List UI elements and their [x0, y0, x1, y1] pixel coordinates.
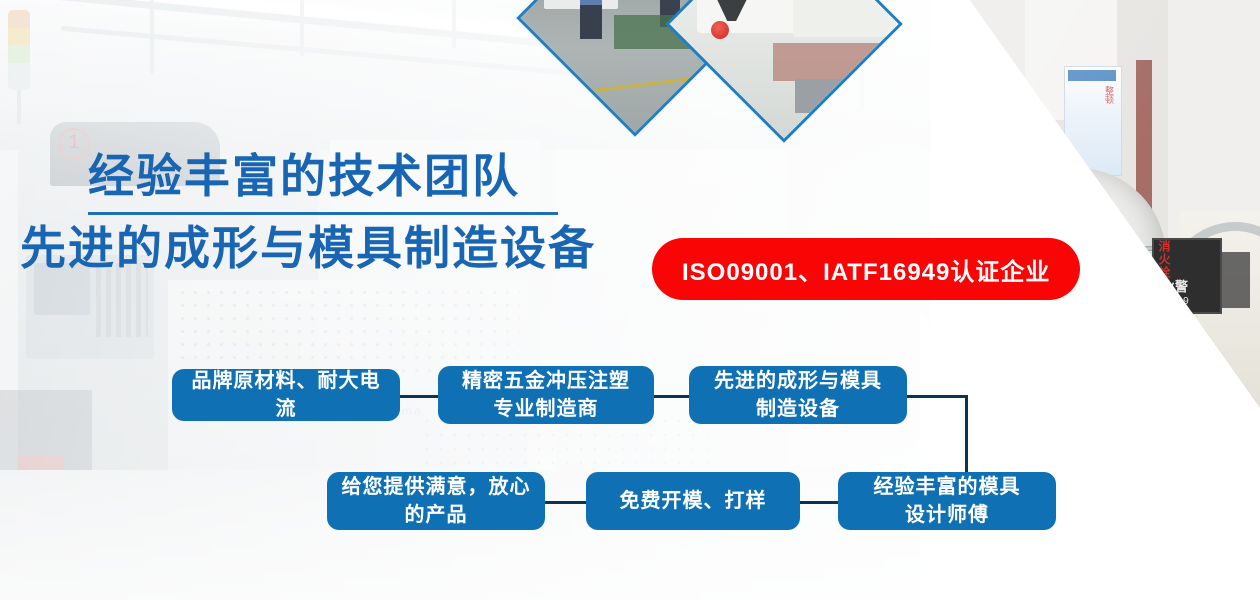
- connector-line-horizontal: [398, 395, 440, 398]
- feature-box-raw-material[interactable]: 品牌原材料、耐大电流: [172, 369, 400, 421]
- headline-block: 经验丰富的技术团队 先进的成形与模具制造设备: [0, 148, 700, 276]
- feature-box-precision-maker[interactable]: 精密五金冲压注塑专业制造商: [438, 366, 654, 424]
- feature-box-experienced-master[interactable]: 经验丰富的模具设计师傅: [838, 472, 1056, 530]
- promo-banner: 1 Gamma Gamma 整顿: [0, 0, 1260, 600]
- connector-line-horizontal: [800, 501, 840, 504]
- headline-line-2: 先进的成形与模具制造设备: [0, 210, 700, 276]
- connector-line-horizontal: [653, 395, 691, 398]
- connector-line-horizontal: [906, 395, 968, 398]
- worker-figure-legs: [580, 5, 602, 39]
- certification-badge: ISO09001、IATF16949认证企业: [652, 238, 1080, 300]
- feature-box-satisfying-product[interactable]: 给您提供满意，放心的产品: [327, 472, 545, 530]
- headline-line-1: 经验丰富的技术团队: [0, 148, 700, 210]
- emergency-stop-icon: [711, 21, 729, 39]
- feature-box-free-mold[interactable]: 免费开模、打样: [586, 472, 800, 530]
- connector-line-horizontal: [545, 501, 587, 504]
- feature-box-advanced-equip[interactable]: 先进的成形与模具制造设备: [689, 366, 907, 424]
- headline-divider: [88, 212, 558, 215]
